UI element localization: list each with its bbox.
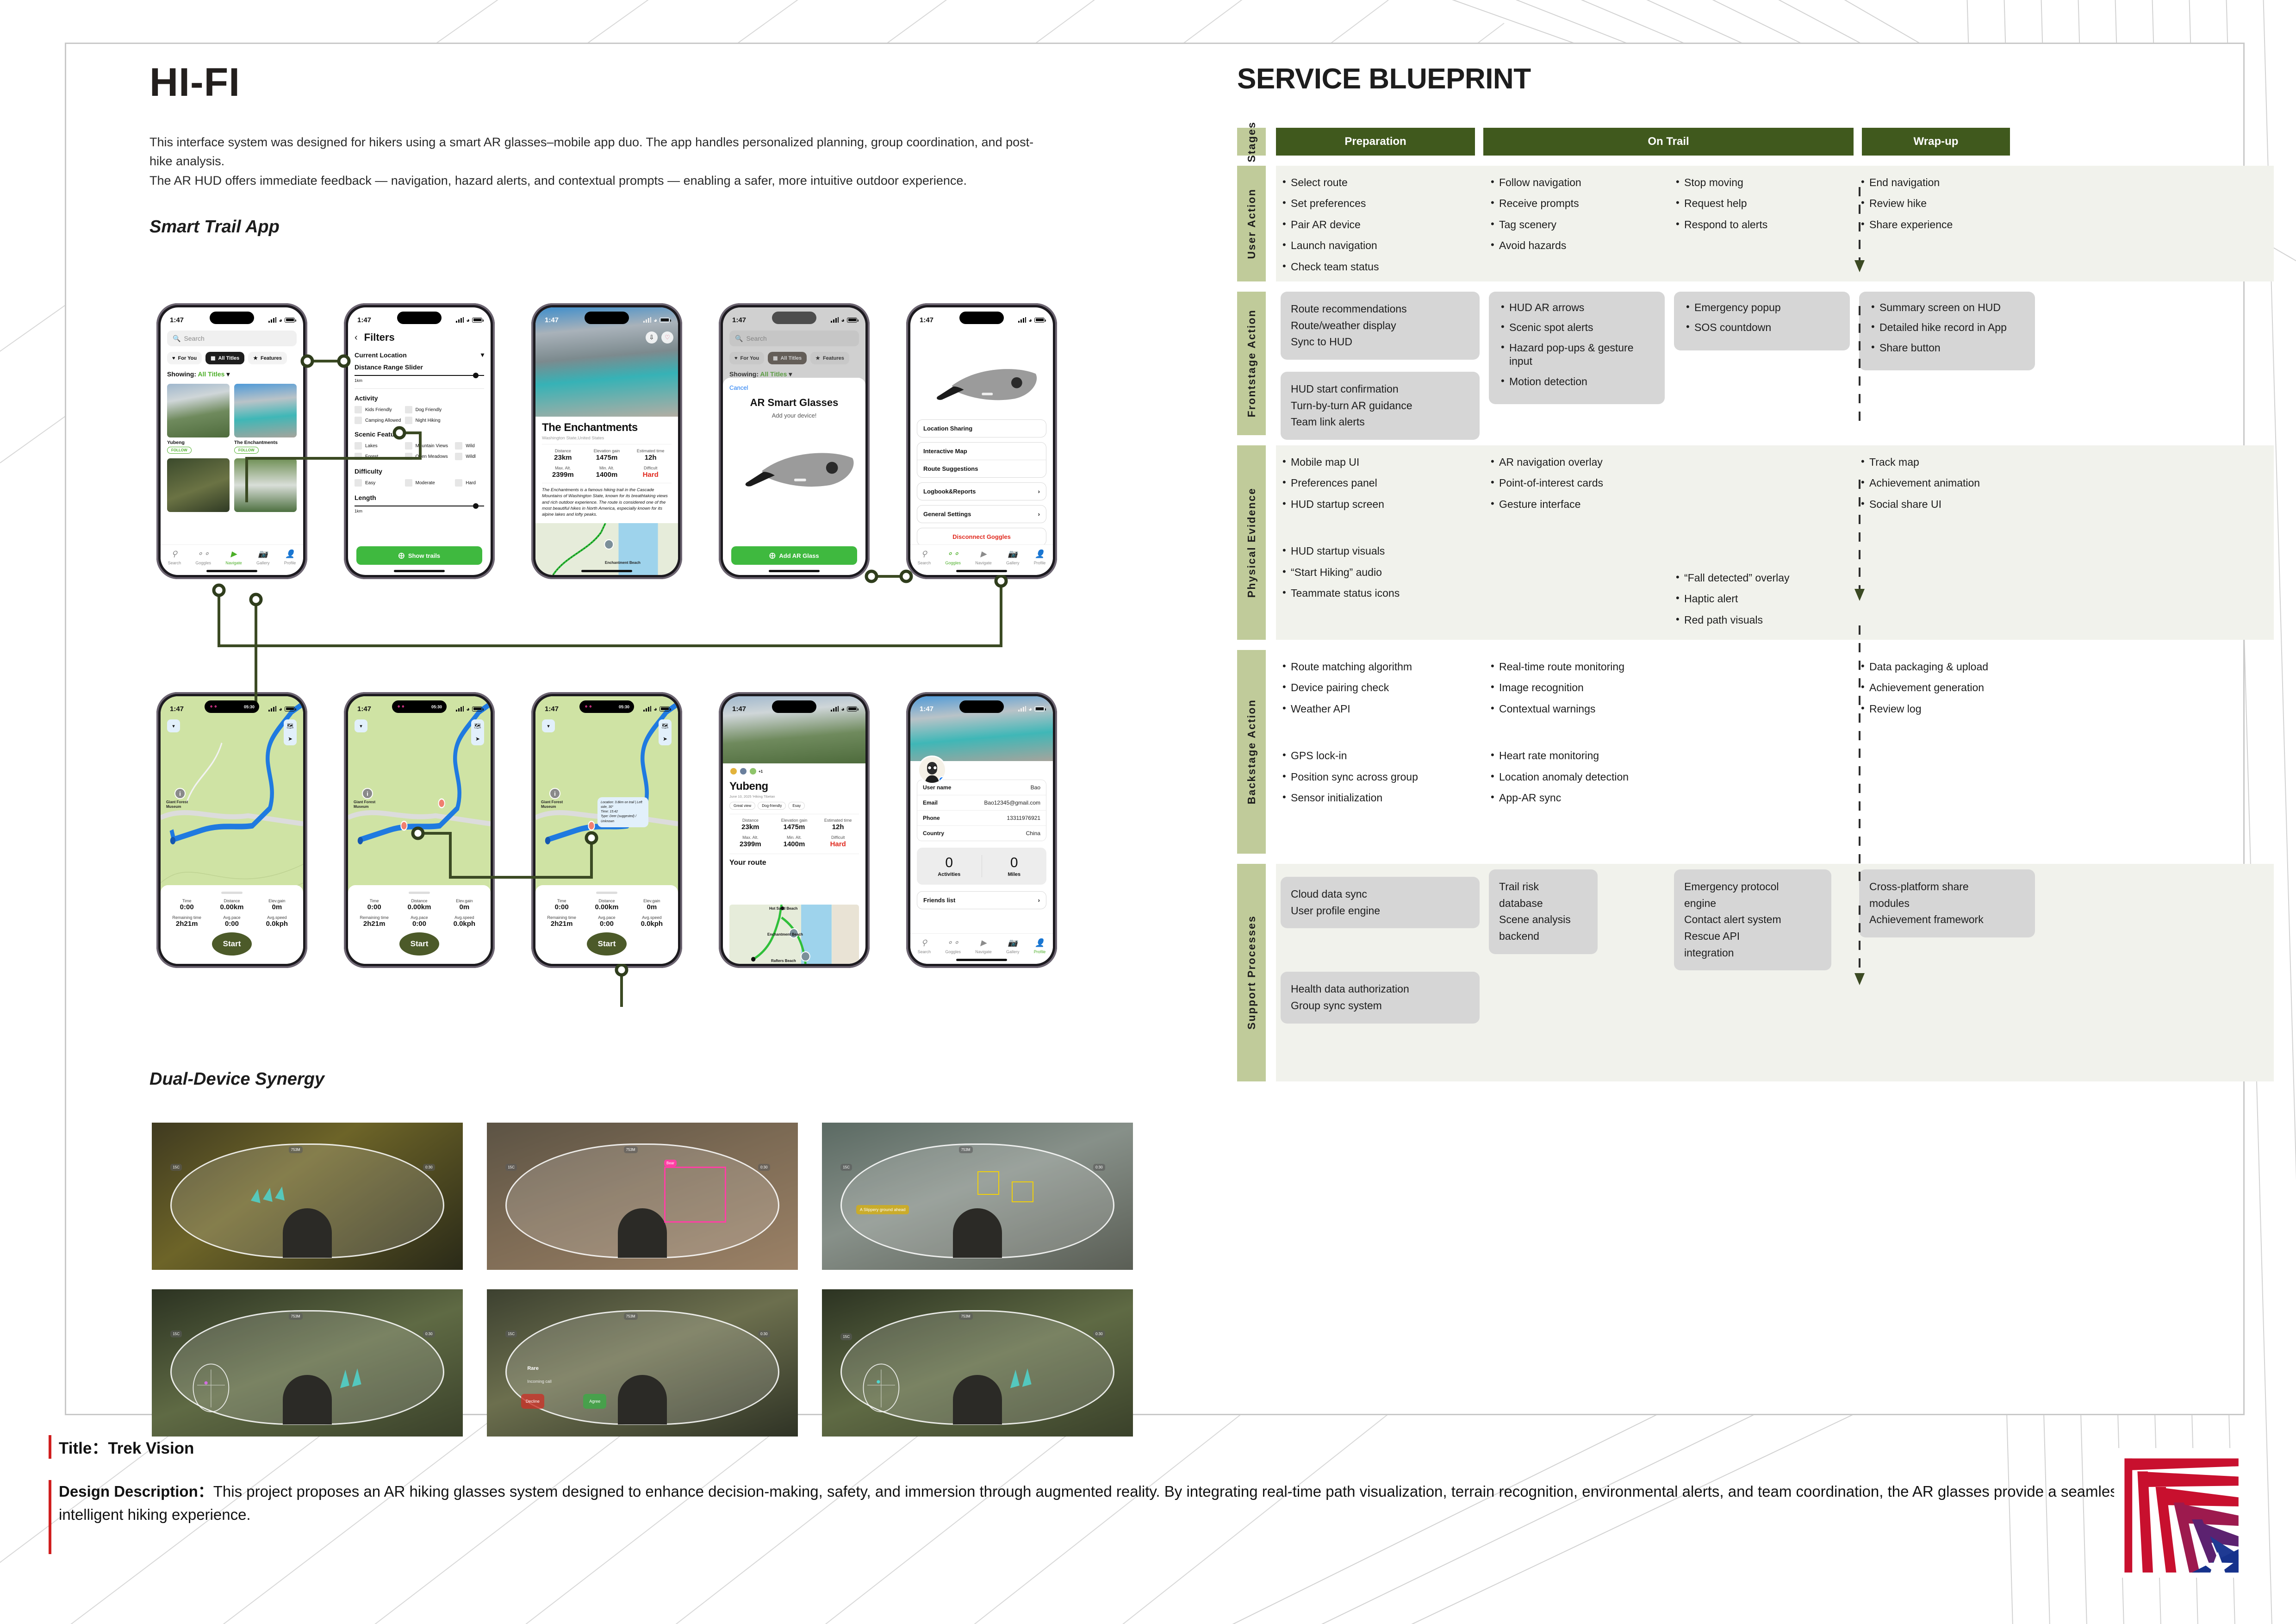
list-item: Motion detection bbox=[1499, 375, 1655, 388]
footer-description-block: Design Description：This project proposes… bbox=[49, 1480, 2159, 1554]
hud-weather-pill: 15C bbox=[505, 1164, 517, 1171]
goggles-icon: ⚬⚬ bbox=[584, 704, 592, 710]
home-indicator bbox=[394, 570, 445, 572]
accept-call-button[interactable]: Agree bbox=[583, 1394, 606, 1409]
ar-arrow-markers bbox=[326, 1366, 376, 1392]
lens-overlay bbox=[505, 1310, 779, 1425]
caller-name: Rare bbox=[527, 1366, 538, 1371]
signal-icon bbox=[643, 317, 651, 323]
support-card-cross-platform: Cross-platform share modules Achievement… bbox=[1859, 869, 2035, 937]
lens-overlay bbox=[170, 1143, 444, 1258]
tab-navigate[interactable]: ▶Navigate bbox=[975, 548, 992, 566]
support-card-cloud-sync: Cloud data sync User profile engine bbox=[1281, 877, 1480, 928]
frontstage-card-emergency: Emergency popup SOS countdown bbox=[1674, 292, 1850, 350]
user-action-emergency-list: Stop moving Request help Respond to aler… bbox=[1674, 176, 1850, 231]
goggles-icon: ⚬⚬ bbox=[209, 704, 218, 710]
wifi-icon: ◕ bbox=[841, 317, 845, 324]
drag-handle[interactable] bbox=[409, 892, 430, 894]
ar-tile-hud-navigation-forest[interactable]: 753M 15C 0:30 bbox=[152, 1123, 463, 1270]
footer-desc-value: This project proposes an AR hiking glass… bbox=[59, 1483, 2155, 1523]
physical-evidence-hud-list: HUD startup visuals “Start Hiking” audio… bbox=[1281, 544, 1480, 600]
list-item: Pair AR device bbox=[1281, 218, 1480, 231]
hifi-intro-line-2: The AR HUD offers immediate feedback — n… bbox=[149, 171, 1043, 190]
blueprint-row-support-processes: Support Processes Cloud data sync User p… bbox=[1237, 864, 2274, 1081]
navigation-stats-panel: Time0:00 Distance0.00km Elev.gain0m Rema… bbox=[161, 885, 303, 964]
list-item: Achievement generation bbox=[1859, 681, 2035, 694]
backstage-gps-list: GPS lock-in Position sync across group S… bbox=[1281, 749, 1480, 805]
tab-goggles[interactable]: ⚬⚬Goggles bbox=[945, 937, 961, 955]
row-label-stages: Stages bbox=[1237, 128, 1266, 156]
user-action-ontrail-list: Follow navigation Receive prompts Tag sc… bbox=[1489, 176, 1665, 253]
gallery-icon: 📷 bbox=[256, 548, 270, 560]
tab-profile[interactable]: 👤Profile bbox=[1034, 548, 1046, 566]
university-flag-logo bbox=[2114, 1448, 2244, 1578]
list-item: Receive prompts bbox=[1489, 197, 1665, 210]
stat-value: 0.00km bbox=[398, 903, 441, 911]
signal-icon bbox=[456, 317, 464, 323]
footer-desc-label: Design Description： bbox=[59, 1483, 213, 1500]
status-time: 1:47 bbox=[545, 316, 559, 324]
navigation-stats-panel: Time0:00 Distance0.00km Elev.gain0m Rema… bbox=[348, 885, 491, 964]
hud-distance-pill: 753M bbox=[959, 1146, 973, 1153]
signal-icon bbox=[268, 317, 276, 323]
stat-key: Avg.pace bbox=[398, 915, 441, 920]
list-item: Location anomaly detection bbox=[1489, 770, 1665, 784]
support-card-emergency-protocol: Emergency protocol engine Contact alert … bbox=[1674, 869, 1831, 970]
backstage-wrapup-list: Data packaging & upload Achievement gene… bbox=[1859, 660, 2035, 716]
ar-hud-gallery: 753M 15C 0:30 753M 15C 0:30 Bear 753M 15… bbox=[152, 1123, 1133, 1437]
signal-icon bbox=[643, 706, 651, 712]
terrain-box bbox=[977, 1171, 999, 1195]
flow-connectors bbox=[66, 294, 1177, 711]
ar-tile-hud-bear-detection[interactable]: 753M 15C 0:30 Bear bbox=[487, 1123, 798, 1270]
blueprint-row-frontstage: Frontstage Action Route recommendations … bbox=[1237, 292, 2274, 435]
service-blueprint-section: SERVICE BLUEPRINT Stages Preparation On … bbox=[1237, 62, 2274, 1092]
search-icon: ⚲ bbox=[168, 548, 181, 560]
search-icon: ⚲ bbox=[918, 937, 931, 949]
stat-value: 2h21m bbox=[353, 920, 396, 928]
frontstage-emergency-list: Emergency popup SOS countdown bbox=[1684, 301, 1840, 335]
lens-overlay bbox=[505, 1143, 779, 1258]
footer-title-value: Trek Vision bbox=[108, 1439, 194, 1457]
list-item: Image recognition bbox=[1489, 681, 1665, 694]
stat-key: Elev.gain bbox=[255, 899, 299, 903]
list-item: Check team status bbox=[1281, 260, 1480, 274]
battery-icon bbox=[285, 706, 295, 712]
tab-navigate[interactable]: ▶Navigate bbox=[975, 937, 992, 955]
blueprint-title: SERVICE BLUEPRINT bbox=[1237, 62, 2274, 95]
tab-gallery[interactable]: 📷Gallery bbox=[256, 548, 270, 566]
ar-arrow-markers bbox=[226, 1181, 307, 1220]
stat-value: 0m bbox=[630, 903, 673, 911]
frontstage-card-hud-ar: HUD AR arrows Scenic spot alerts Hazard … bbox=[1489, 292, 1665, 404]
list-item: Data packaging & upload bbox=[1859, 660, 2035, 674]
hud-timer-pill: 0:30 bbox=[1093, 1330, 1105, 1337]
hud-timer-pill: 0:30 bbox=[423, 1330, 435, 1337]
navigate-icon: ▶ bbox=[225, 548, 242, 560]
stat-value: 0.00km bbox=[585, 903, 628, 911]
call-status: Incoming call bbox=[527, 1379, 552, 1384]
list-item: HUD startup visuals bbox=[1281, 544, 1480, 558]
support-card-trail-risk: Trail risk database Scene analysis backe… bbox=[1489, 869, 1598, 954]
navigation-stats-panel: Time0:00 Distance0.00km Elev.gain0m Rema… bbox=[535, 885, 678, 964]
list-item: Position sync across group bbox=[1281, 770, 1480, 784]
stat-key: Remaining time bbox=[165, 915, 208, 920]
support-card-health-auth: Health data authorization Group sync sys… bbox=[1281, 972, 1480, 1023]
status-time: 1:47 bbox=[732, 705, 746, 713]
physical-evidence-wrapup-list: Track map Achievement animation Social s… bbox=[1859, 456, 2035, 511]
backstage-health-list: Heart rate monitoring Location anomaly d… bbox=[1489, 749, 1665, 805]
stage-on-trail: On Trail bbox=[1483, 128, 1854, 156]
smart-trail-app-heading: Smart Trail App bbox=[149, 217, 1177, 237]
list-item: Select route bbox=[1281, 176, 1480, 189]
ar-tile-hud-slippery-ground[interactable]: 753M 15C 0:30 A Slippery ground ahead bbox=[822, 1123, 1133, 1270]
stat-value: 0:00 bbox=[165, 903, 208, 911]
stage-preparation: Preparation bbox=[1276, 128, 1475, 156]
stat-key: Elev.gain bbox=[443, 899, 486, 903]
hud-distance-pill: 753M bbox=[289, 1313, 303, 1320]
backstage-ontrail-list: Real-time route monitoring Image recogni… bbox=[1489, 660, 1665, 716]
row-label-user-action: User Action bbox=[1237, 166, 1266, 281]
row-label-physical-evidence: Physical Evidence bbox=[1237, 445, 1266, 640]
list-item: Contextual warnings bbox=[1489, 702, 1665, 716]
object-detection-box bbox=[664, 1167, 726, 1223]
hud-weather-pill: 15C bbox=[170, 1164, 182, 1171]
list-item: HUD startup screen bbox=[1281, 498, 1480, 511]
home-indicator bbox=[581, 570, 632, 572]
battery-icon bbox=[1034, 318, 1045, 323]
list-item: Device pairing check bbox=[1281, 681, 1480, 694]
goggles-icon: ⚬⚬ bbox=[195, 548, 211, 560]
accent-bar bbox=[49, 1435, 51, 1459]
stat-key: Distance bbox=[210, 899, 253, 903]
phone-notch bbox=[959, 312, 1004, 324]
list-item: Follow navigation bbox=[1489, 176, 1665, 189]
drag-handle[interactable] bbox=[596, 892, 617, 894]
stat-value: 0:00 bbox=[540, 903, 583, 911]
blueprint-row-backstage: Backstage Action Route matching algorith… bbox=[1237, 650, 2274, 854]
battery-icon bbox=[847, 706, 857, 712]
list-item: “Start Hiking” audio bbox=[1281, 566, 1480, 579]
battery-icon bbox=[660, 318, 670, 323]
minimap-radar bbox=[177, 1363, 245, 1413]
ar-sheet-subtitle: Add your device! bbox=[729, 412, 859, 419]
wifi-icon: ◕ bbox=[653, 317, 657, 324]
list-item: Sensor initialization bbox=[1281, 791, 1480, 805]
hifi-title: HI-FI bbox=[149, 62, 1177, 102]
navigation-stats: Time0:00 Distance0.00km Elev.gain0m Rema… bbox=[165, 899, 299, 928]
start-button[interactable]: Start bbox=[587, 932, 627, 956]
list-item: Request help bbox=[1674, 197, 1850, 210]
phone-notch bbox=[772, 700, 816, 713]
blueprint-row-user-action: User Action Select route Set preferences… bbox=[1237, 166, 2274, 281]
list-item: Mobile map UI bbox=[1281, 456, 1480, 469]
navigation-stats: Time0:00 Distance0.00km Elev.gain0m Rema… bbox=[353, 899, 486, 928]
list-item: Detailed hike record in App bbox=[1869, 321, 2025, 334]
list-item: End navigation bbox=[1859, 176, 2035, 189]
stat-key: Avg.pace bbox=[210, 915, 253, 920]
stat-key: Time bbox=[353, 899, 396, 903]
goggles-icon: ⚬⚬ bbox=[945, 937, 961, 949]
tab-search[interactable]: ⚲Search bbox=[918, 548, 931, 566]
status-time: 1:47 bbox=[920, 316, 933, 324]
dynamic-island: ⚬⚬ 05:30 bbox=[205, 700, 259, 713]
physical-evidence-prep-list: Mobile map UI Preferences panel HUD star… bbox=[1281, 456, 1480, 511]
stat-value: 2h21m bbox=[540, 920, 583, 928]
home-indicator bbox=[769, 570, 820, 572]
list-item: Share button bbox=[1869, 341, 2025, 355]
cancel-button[interactable]: Cancel bbox=[729, 384, 859, 391]
list-item: Point-of-interest cards bbox=[1489, 476, 1665, 490]
stat-key: Time bbox=[165, 899, 208, 903]
gallery-icon: 📷 bbox=[1006, 937, 1020, 949]
hud-weather-pill: 15C bbox=[505, 1330, 517, 1337]
drag-handle[interactable] bbox=[221, 892, 243, 894]
stat-value: 0:00 bbox=[210, 920, 253, 928]
stat-value: 0:00 bbox=[585, 920, 628, 928]
list-item: Track map bbox=[1859, 456, 2035, 469]
status-time: 1:47 bbox=[357, 316, 371, 324]
stat-key: Avg.pace bbox=[585, 915, 628, 920]
stat-value: 0:00 bbox=[398, 920, 441, 928]
stat-value: 0.0kph bbox=[443, 920, 486, 928]
wifi-icon: ◕ bbox=[279, 706, 282, 712]
accent-bar bbox=[49, 1480, 51, 1554]
ar-arrow-markers bbox=[996, 1366, 1046, 1392]
decline-call-button[interactable]: Decline bbox=[521, 1394, 544, 1409]
flow-connectors-row2 bbox=[66, 692, 1177, 1016]
frontstage-card-route: Route recommendations Route/weather disp… bbox=[1281, 292, 1480, 360]
navigation-stats: Time0:00 Distance0.00km Elev.gain0m Rema… bbox=[540, 899, 673, 928]
stat-key: Time bbox=[540, 899, 583, 903]
footer-title-block: Title：Trek Vision bbox=[49, 1435, 2159, 1459]
status-time: 1:47 bbox=[357, 705, 371, 713]
hud-weather-pill: 15C bbox=[840, 1333, 852, 1340]
dynamic-island: ⚬⚬ 05:30 bbox=[579, 700, 634, 713]
profile-icon: 👤 bbox=[284, 548, 296, 560]
list-item: HUD AR arrows bbox=[1499, 301, 1655, 314]
stat-value: 0m bbox=[443, 903, 486, 911]
status-time: 1:47 bbox=[920, 705, 933, 713]
stat-value: 2h21m bbox=[165, 920, 208, 928]
tab-goggles[interactable]: ⚬⚬Goggles bbox=[195, 548, 211, 566]
list-item: Share experience bbox=[1859, 218, 2035, 231]
list-item: Stop moving bbox=[1674, 176, 1850, 189]
wifi-icon: ◕ bbox=[279, 317, 282, 324]
status-time: 1:47 bbox=[545, 705, 559, 713]
wifi-icon: ◕ bbox=[841, 706, 845, 712]
tab-profile[interactable]: 👤Profile bbox=[1034, 937, 1046, 955]
physical-evidence-ontrail-list: AR navigation overlay Point-of-interest … bbox=[1489, 456, 1665, 511]
hud-distance-pill: 753M bbox=[624, 1146, 638, 1153]
hud-timer-pill: 0:30 bbox=[1093, 1164, 1105, 1171]
stat-key: Distance bbox=[585, 899, 628, 903]
hifi-intro-line-1: This interface system was designed for h… bbox=[149, 133, 1043, 170]
list-item: Gesture interface bbox=[1489, 498, 1665, 511]
hifi-intro: This interface system was designed for h… bbox=[149, 133, 1043, 190]
wifi-icon: ◕ bbox=[466, 706, 470, 712]
battery-icon bbox=[472, 706, 482, 712]
navigate-icon: ▶ bbox=[975, 548, 992, 560]
list-item: Haptic alert bbox=[1674, 592, 1850, 606]
start-button[interactable]: Start bbox=[399, 932, 439, 956]
footer-title-label: Title： bbox=[59, 1439, 108, 1457]
ar-tile-hud-minimap[interactable]: 753M 15C 0:30 bbox=[822, 1289, 1133, 1437]
hud-distance-pill: 753M bbox=[959, 1313, 973, 1320]
poster-main-panel: HI-FI This interface system was designed… bbox=[65, 43, 2245, 1415]
home-indicator bbox=[206, 570, 257, 572]
tab-gallery[interactable]: 📷Gallery bbox=[1006, 548, 1020, 566]
signal-icon bbox=[831, 317, 839, 323]
list-item: Scenic spot alerts bbox=[1499, 321, 1655, 334]
battery-icon bbox=[1034, 706, 1045, 712]
lens-overlay bbox=[840, 1143, 1114, 1258]
battery-icon bbox=[847, 318, 857, 323]
stat-key: Avg.speed bbox=[630, 915, 673, 920]
list-item: Summary screen on HUD bbox=[1869, 301, 2025, 314]
stat-key: Avg.speed bbox=[443, 915, 486, 920]
tab-gallery[interactable]: 📷Gallery bbox=[1006, 937, 1020, 955]
user-action-prep-list: Select route Set preferences Pair AR dev… bbox=[1281, 176, 1480, 274]
terrain-box bbox=[1012, 1181, 1033, 1202]
list-item: Red path visuals bbox=[1674, 613, 1850, 627]
tab-search[interactable]: ⚲Search bbox=[918, 937, 931, 955]
signal-icon bbox=[268, 706, 276, 712]
wifi-icon: ◕ bbox=[1028, 317, 1032, 324]
dynamic-island: ⚬⚬ 05:30 bbox=[392, 700, 447, 713]
stage-header-row: Preparation On Trail Wrap-up bbox=[1276, 128, 2274, 156]
row-label-frontstage-action: Frontstage Action bbox=[1237, 292, 1266, 435]
list-item: Heart rate monitoring bbox=[1489, 749, 1665, 762]
ar-tile-hud-incoming-call[interactable]: 753M 15C 0:30 Rare Incoming call Decline… bbox=[487, 1289, 798, 1437]
list-item: Tag scenery bbox=[1489, 218, 1665, 231]
user-action-wrapup-list: End navigation Review hike Share experie… bbox=[1859, 176, 2035, 231]
blueprint-row-stages: Stages Preparation On Trail Wrap-up bbox=[1237, 128, 2274, 156]
list-item: Teammate status icons bbox=[1281, 587, 1480, 600]
stat-value: 0:00 bbox=[353, 903, 396, 911]
goggles-icon: ⚬⚬ bbox=[397, 704, 405, 710]
list-item: Real-time route monitoring bbox=[1489, 660, 1665, 674]
navigate-icon: ▶ bbox=[975, 937, 992, 949]
hud-timer-pill: 0:30 bbox=[758, 1164, 770, 1171]
home-indicator bbox=[956, 570, 1007, 572]
tab-goggles[interactable]: ⚬⚬Goggles bbox=[945, 548, 961, 566]
stat-value: 0.0kph bbox=[255, 920, 299, 928]
phone-notch bbox=[585, 312, 629, 324]
stat-key: Remaining time bbox=[353, 915, 396, 920]
home-indicator bbox=[956, 959, 1007, 961]
list-item: Avoid hazards bbox=[1489, 239, 1665, 252]
signal-icon bbox=[456, 706, 464, 712]
list-item: SOS countdown bbox=[1684, 321, 1840, 334]
hazard-warning-banner: A Slippery ground ahead bbox=[856, 1205, 909, 1214]
hud-weather-pill: 15C bbox=[170, 1330, 182, 1337]
wifi-icon: ◕ bbox=[1028, 706, 1032, 712]
stat-key: Avg.speed bbox=[255, 915, 299, 920]
list-item: Weather API bbox=[1281, 702, 1480, 716]
list-item: Hazard pop-ups & gesture input bbox=[1499, 341, 1655, 369]
list-item: Review hike bbox=[1859, 197, 2035, 210]
list-item: Review log bbox=[1859, 702, 2035, 716]
list-item: Respond to alerts bbox=[1674, 218, 1850, 231]
stat-key: Elev.gain bbox=[630, 899, 673, 903]
backstage-prep-list: Route matching algorithm Device pairing … bbox=[1281, 660, 1480, 716]
minimap-radar bbox=[847, 1363, 915, 1413]
blueprint-row-physical-evidence: Physical Evidence Mobile map UI Preferen… bbox=[1237, 445, 2274, 640]
list-item: Achievement animation bbox=[1859, 476, 2035, 490]
wifi-icon: ◕ bbox=[653, 706, 657, 712]
signal-icon bbox=[1018, 706, 1026, 712]
list-item: “Fall detected” overlay bbox=[1674, 571, 1850, 585]
list-item: Route matching algorithm bbox=[1281, 660, 1480, 674]
hud-timer-pill: 0:30 bbox=[758, 1330, 770, 1337]
row-label-support-processes: Support Processes bbox=[1237, 864, 1266, 1081]
stat-key: Remaining time bbox=[540, 915, 583, 920]
hud-distance-pill: 753M bbox=[624, 1313, 638, 1320]
add-ar-glass-button[interactable]: ⨁ Add AR Glass bbox=[731, 546, 857, 565]
goggles-icon: ⚬⚬ bbox=[945, 548, 961, 560]
phone-notch bbox=[210, 312, 254, 324]
poster-footer: Title：Trek Vision Design Description：Thi… bbox=[49, 1435, 2159, 1554]
start-button[interactable]: Start bbox=[212, 932, 252, 956]
battery-icon bbox=[472, 318, 482, 323]
list-item: Launch navigation bbox=[1281, 239, 1480, 252]
list-item: App-AR sync bbox=[1489, 791, 1665, 805]
stat-key: Distance bbox=[398, 899, 441, 903]
frontstage-summary-list: Summary screen on HUD Detailed hike reco… bbox=[1869, 301, 2025, 355]
stat-value: 0.0kph bbox=[630, 920, 673, 928]
hud-timer-pill: 0:30 bbox=[423, 1164, 435, 1171]
profile-icon: 👤 bbox=[1034, 548, 1046, 560]
phone-notch bbox=[397, 312, 442, 324]
list-item: GPS lock-in bbox=[1281, 749, 1480, 762]
list-item: Emergency popup bbox=[1684, 301, 1840, 314]
physical-evidence-fall-list: “Fall detected” overlay Haptic alert Red… bbox=[1674, 571, 1850, 627]
stat-value: 0m bbox=[255, 903, 299, 911]
blueprint-grid: Stages Preparation On Trail Wrap-up User… bbox=[1237, 128, 2274, 1081]
tab-profile[interactable]: 👤Profile bbox=[284, 548, 296, 566]
hud-weather-pill: 15C bbox=[840, 1164, 852, 1171]
profile-icon: 👤 bbox=[1034, 937, 1046, 949]
signal-icon bbox=[1018, 317, 1026, 323]
ar-sheet-title: AR Smart Glasses bbox=[729, 397, 859, 409]
wifi-icon: ◕ bbox=[466, 317, 470, 324]
detection-label-bear: Bear bbox=[664, 1160, 677, 1167]
list-item: Preferences panel bbox=[1281, 476, 1480, 490]
battery-icon bbox=[285, 318, 295, 323]
list-item: AR navigation overlay bbox=[1489, 456, 1665, 469]
ar-glasses-illustration bbox=[729, 435, 859, 504]
status-time: 1:47 bbox=[732, 316, 746, 324]
battery-icon bbox=[660, 706, 670, 712]
stage-wrap-up: Wrap-up bbox=[1862, 128, 2010, 156]
ar-pair-sheet: Cancel AR Smart Glasses Add your device!… bbox=[723, 378, 865, 575]
phone-notch bbox=[959, 700, 1004, 713]
list-item: Social share UI bbox=[1859, 498, 2035, 511]
dual-device-synergy-heading: Dual-Device Synergy bbox=[149, 1069, 324, 1089]
hifi-section: HI-FI This interface system was designed… bbox=[149, 62, 1177, 237]
list-item: Set preferences bbox=[1281, 197, 1480, 210]
frontstage-card-hud-start: HUD start confirmation Turn-by-turn AR g… bbox=[1281, 372, 1480, 440]
phone-notch bbox=[772, 312, 816, 324]
tab-navigate[interactable]: ▶Navigate bbox=[225, 548, 242, 566]
stat-value: 0.00km bbox=[210, 903, 253, 911]
ar-tile-hud-teammate-radar[interactable]: 753M 15C 0:30 bbox=[152, 1289, 463, 1437]
tab-search[interactable]: ⚲Search bbox=[168, 548, 181, 566]
plus-icon: ⨁ bbox=[769, 552, 775, 559]
signal-icon bbox=[831, 706, 839, 712]
search-icon: ⚲ bbox=[918, 548, 931, 560]
